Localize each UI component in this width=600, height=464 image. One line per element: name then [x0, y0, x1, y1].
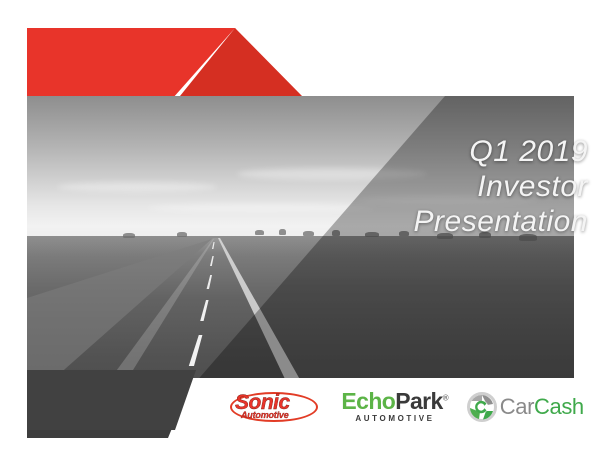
logo-carcash[interactable]: CarCash: [467, 390, 584, 424]
slide-title: Q1 2019 Investor Presentation: [168, 134, 588, 239]
logo-echopark-automotive[interactable]: EchoPark® AUTOMOTIVE: [341, 388, 444, 426]
sonic-subtitle: Automotive: [241, 410, 289, 420]
title-line-2: Investor: [168, 169, 588, 204]
carcash-recycle-icon: [467, 392, 497, 422]
echopark-subtitle: AUTOMOTIVE: [355, 414, 434, 423]
carcash-word-cash: Cash: [534, 394, 584, 419]
logo-sonic-automotive[interactable]: Sonic Automotive: [228, 389, 319, 425]
echopark-word-echo: Echo: [341, 388, 395, 414]
title-line-1: Q1 2019: [168, 134, 588, 169]
carcash-word-car: Car: [500, 394, 534, 419]
photo-bottom-wedge: [0, 370, 240, 446]
echopark-wordmark: EchoPark®: [341, 388, 448, 415]
title-slide: Q1 2019 Investor Presentation Sonic Auto…: [0, 0, 600, 464]
echopark-trademark-icon: ®: [443, 393, 448, 402]
carcash-wordmark: CarCash: [500, 394, 584, 420]
partner-logos: Sonic Automotive EchoPark® AUTOMOTIVE Ca…: [228, 386, 584, 428]
echopark-word-park: Park: [395, 388, 442, 414]
title-line-3: Presentation: [168, 204, 588, 239]
